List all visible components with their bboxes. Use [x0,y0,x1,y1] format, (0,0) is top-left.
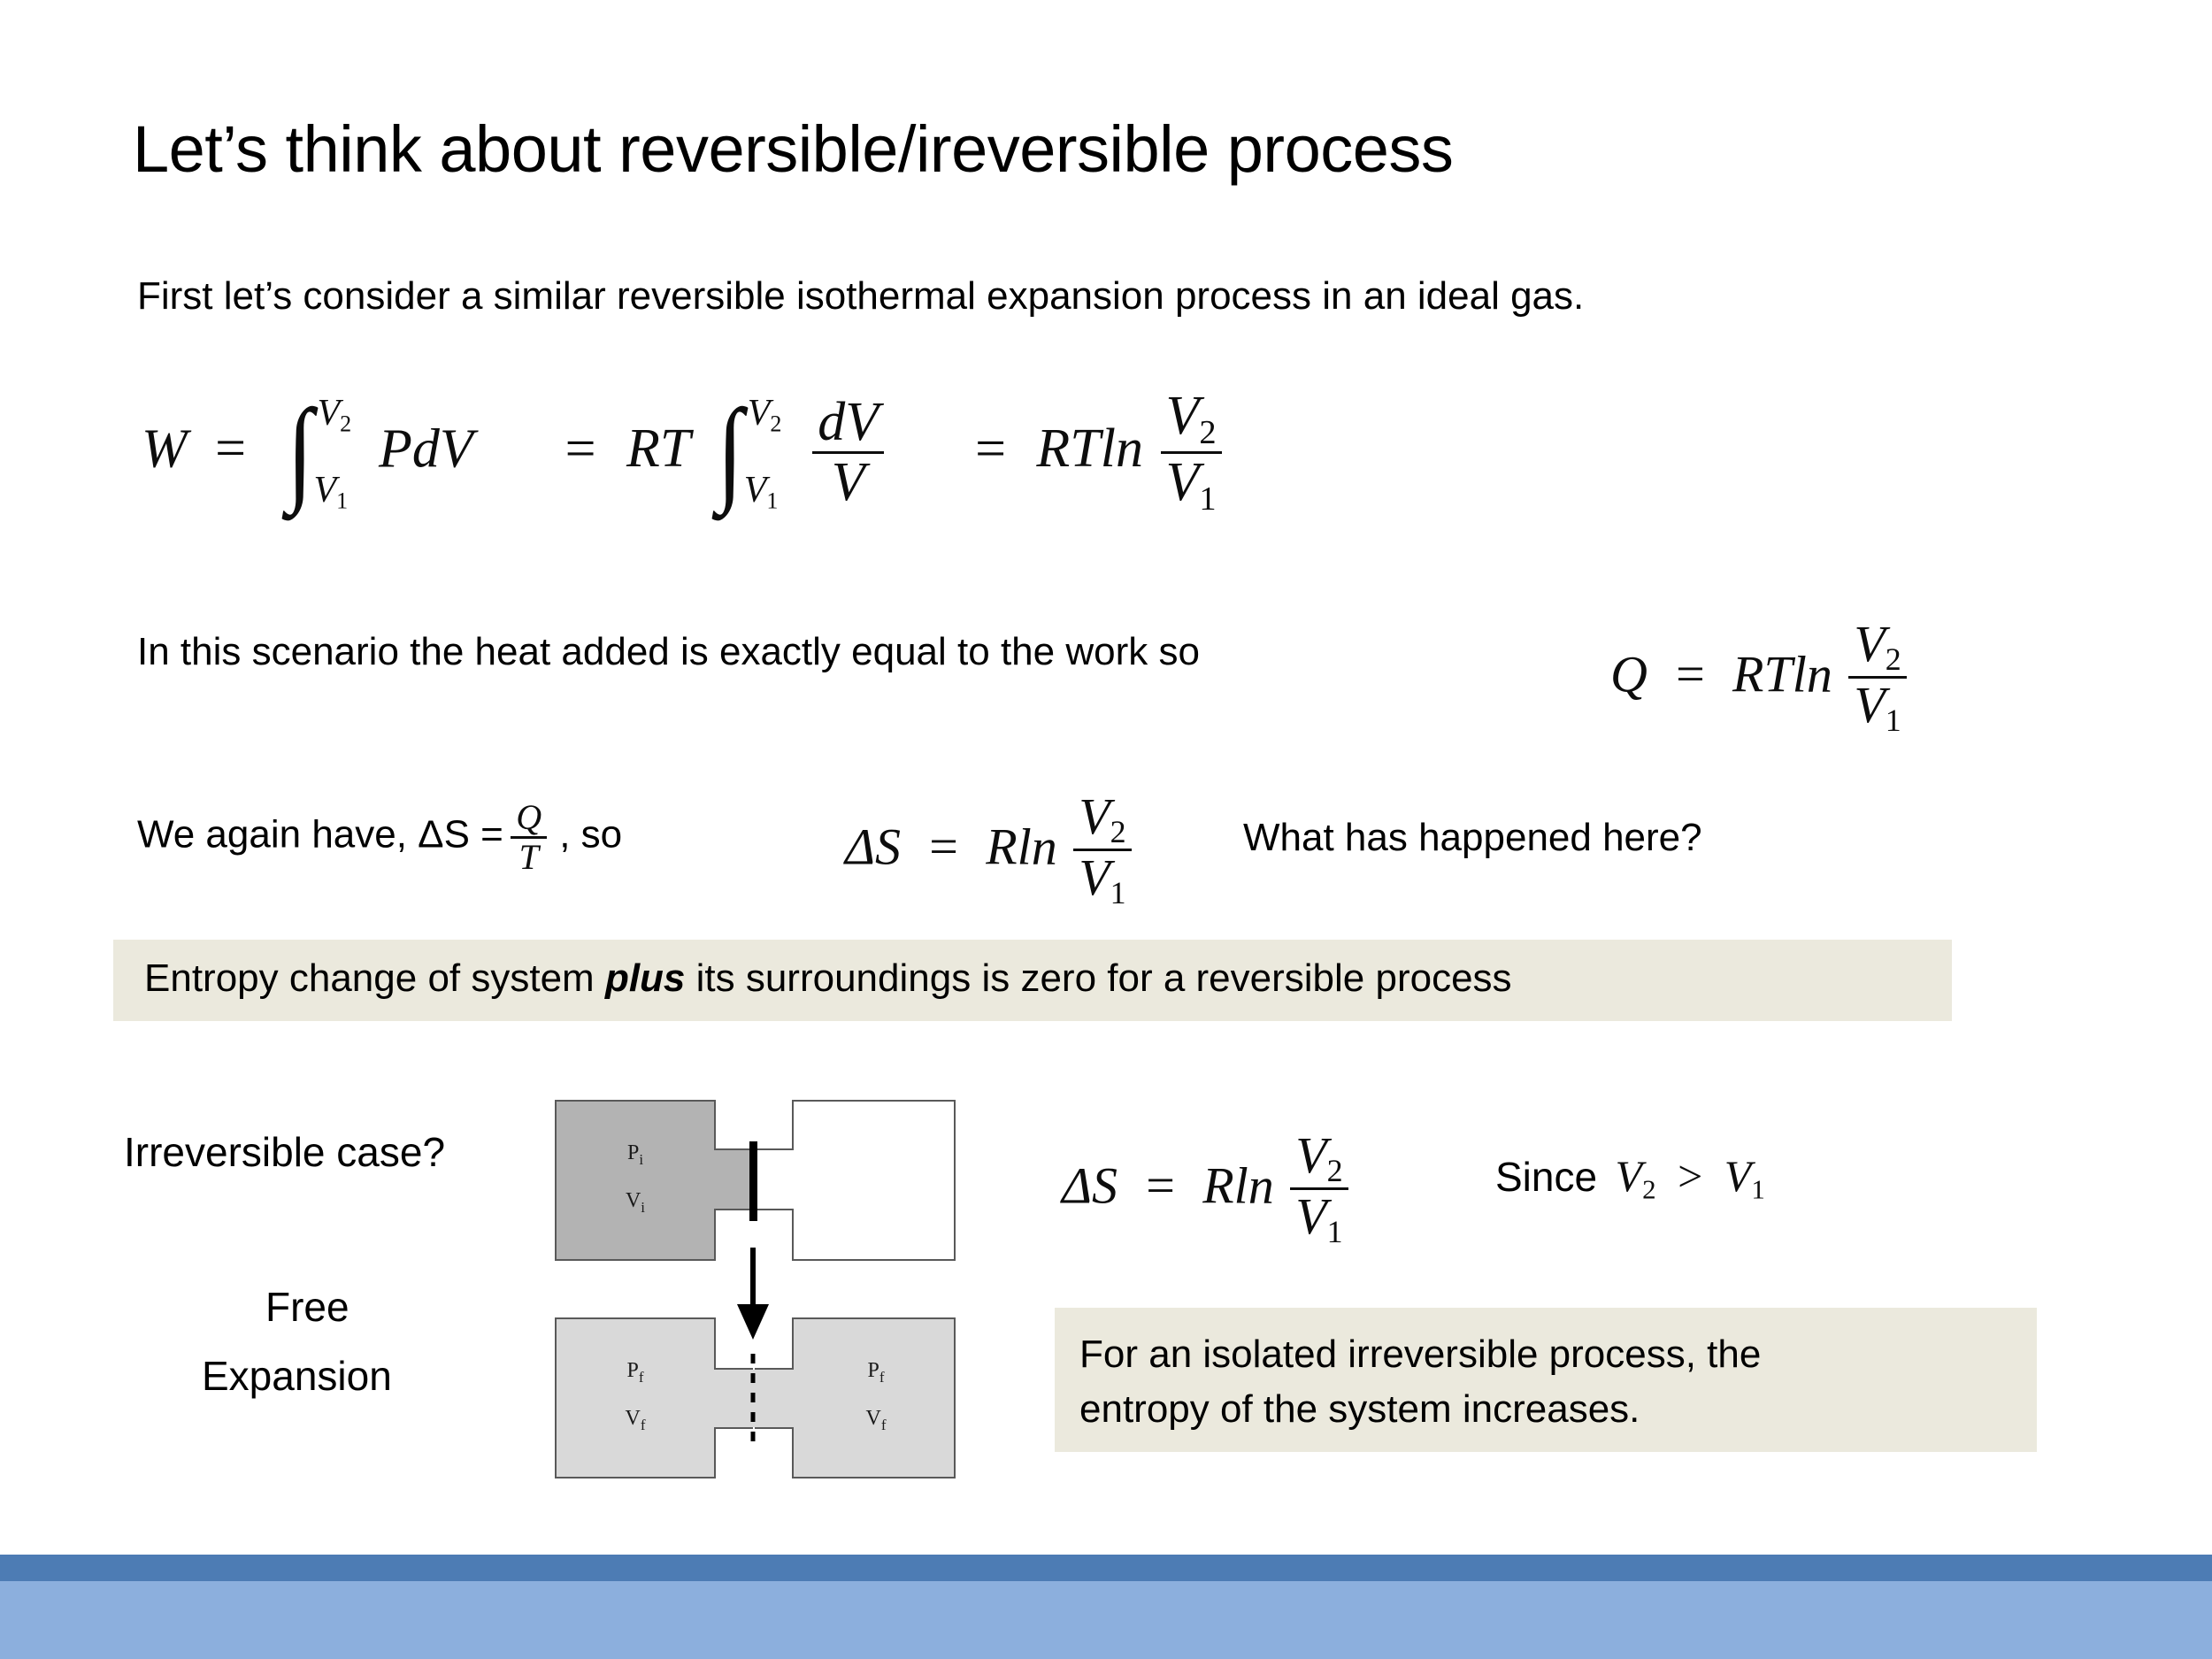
work-equals-1: = [211,419,249,479]
entropy-lhs: ΔS [1062,1156,1118,1214]
what-happened-question: What has happened here? [1243,816,1702,860]
fraction-v2-over-v1: V2 V1 [1161,388,1222,517]
free-expansion-diagram: Pi Vi Pf Vf Pf Vf [549,1099,991,1506]
fraction-denominator: V1 [1290,1187,1348,1248]
reversible-callout-box: Entropy change of system plus its surrou… [113,940,1952,1021]
work-rt: RT [626,419,689,479]
fraction-numerator: V2 [1161,388,1222,451]
footer-band-dark [0,1555,2212,1581]
inequality-v2-gt-v1: V2 > V1 [1616,1151,1765,1201]
fraction-v2-over-v1: V2 V1 [1073,790,1131,910]
fraction-denominator: V1 [1073,849,1131,910]
definite-integral-pdv: ∫ V2 V1 [279,397,364,503]
footer-band-light [0,1581,2212,1659]
heat-equals: = [1672,645,1707,703]
integral-upper-limit: V2 [318,392,352,437]
so-label: , so [559,812,622,856]
fraction-denominator: V1 [1161,451,1222,518]
work-equals-2: = [562,419,599,479]
callout-text-part2: its surroundings is zero for a reversibl… [685,956,1511,1000]
callout-line-1: For an isolated irreversible process, th… [1079,1327,1761,1382]
fraction-numerator: V2 [1073,790,1131,849]
irreversible-callout-text: For an isolated irreversible process, th… [1079,1327,1761,1438]
integral-upper-limit: V2 [748,392,782,437]
reversible-entropy-equation: ΔS = Rln V2 V1 [845,792,1135,912]
expansion-label: Expansion [202,1352,392,1400]
intro-paragraph: First let’s consider a similar reversibl… [137,274,1584,319]
entropy-equals: = [1143,1156,1178,1214]
fraction-numerator: V2 [1848,618,1906,676]
entropy-equals: = [926,818,961,875]
irreversible-entropy-equation: ΔS = Rln V2 V1 [1062,1131,1352,1251]
since-inequality-row: Since V2 > V1 [1495,1150,1765,1206]
process-arrow-icon [737,1248,769,1340]
irreversible-callout-box: For an isolated irreversible process, th… [1055,1308,2037,1452]
final-left-chamber [556,1318,752,1478]
definite-integral-dv-over-v: ∫ V2 V1 [709,397,794,503]
entropy-lhs: ΔS [845,818,901,875]
reversible-callout-text: Entropy change of system plus its surrou… [144,956,1512,1001]
final-right-chamber [756,1318,955,1478]
entropy-definition-row: We again have, ΔS = Q T , so [137,801,622,877]
work-equation: W = ∫ V2 V1 PdV = RT ∫ V2 V1 dV V = RTln… [142,389,1225,518]
callout-emphasis: plus [605,956,685,1000]
callout-text-part1: Entropy change of system [144,956,605,1000]
fraction-q-over-t: Q T [507,815,559,855]
entropy-rln: Rln [1202,1156,1274,1214]
closed-valve-partition [749,1141,757,1221]
fraction-v2-over-v1: V2 V1 [1290,1129,1348,1249]
integral-sign-icon: ∫ [717,392,743,509]
free-label: Free [265,1283,349,1331]
scenario-paragraph: In this scenario the heat added is exact… [137,630,1200,674]
integral-sign-icon: ∫ [287,392,313,509]
initial-empty-chamber [756,1101,955,1260]
callout-line-2: entropy of the system increases. [1079,1382,1761,1437]
since-label: Since [1495,1154,1597,1200]
work-rtln: RTln [1036,419,1143,479]
fraction-denominator: V1 [1848,676,1906,737]
heat-equation: Q = RTln V2 V1 [1610,619,1910,740]
again-have-label: We again have, ΔS = [137,812,503,856]
entropy-rln: Rln [986,818,1057,875]
initial-filled-chamber [556,1101,752,1260]
heat-rtln: RTln [1732,645,1832,703]
work-integrand: PdV [379,419,472,479]
integral-lower-limit: V1 [744,469,779,514]
fraction-v2-over-v1: V2 V1 [1848,618,1906,738]
fraction-dv-over-v: dV V [812,394,884,511]
integral-lower-limit: V1 [314,469,349,514]
work-lhs: W [142,419,188,479]
work-equals-3: = [972,419,1009,479]
page-title: Let’s think about reversible/ireversible… [133,111,1453,187]
heat-lhs: Q [1610,645,1647,703]
irreversible-case-label: Irreversible case? [124,1128,445,1176]
fraction-numerator: V2 [1290,1129,1348,1187]
